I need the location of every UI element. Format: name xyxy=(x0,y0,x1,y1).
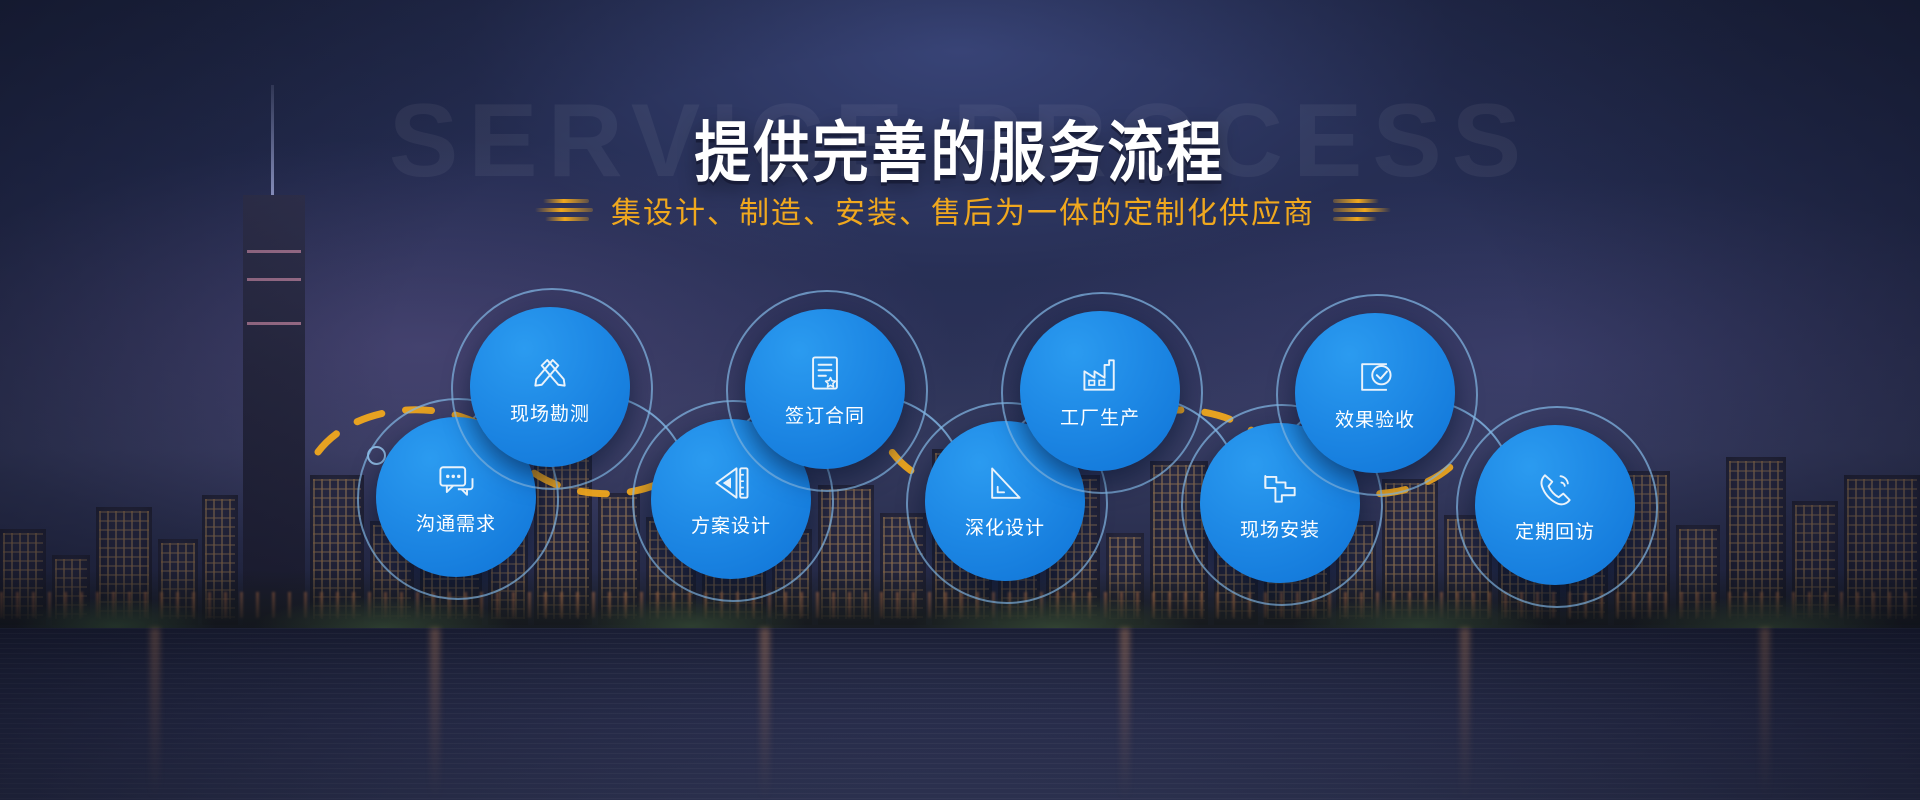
process-flow: 沟通需求 现场勘测 方案设计 xyxy=(0,300,1920,620)
subtitle-row: 集设计、制造、安装、售后为一体的定制化供应商 xyxy=(0,188,1920,232)
step-label-7: 现场安装 xyxy=(1240,515,1320,542)
step-label-5: 深化设计 xyxy=(965,513,1045,540)
step-label-3: 方案设计 xyxy=(691,511,771,538)
step-node-4[interactable]: 签订合同 xyxy=(745,309,905,469)
service-process-banner: SERVICE PROCESS 提供完善的服务流程 集设计、制造、安装、售后为一… xyxy=(0,0,1920,800)
step-node-6[interactable]: 工厂生产 xyxy=(1020,311,1180,471)
step-label-2: 现场勘测 xyxy=(510,399,590,426)
page-title: 提供完善的服务流程 xyxy=(0,100,1920,196)
factory-icon xyxy=(1078,353,1122,397)
step-label-9: 定期回访 xyxy=(1515,517,1595,544)
step-node-9[interactable]: 定期回访 xyxy=(1475,425,1635,585)
step-label-1: 沟通需求 xyxy=(416,509,496,536)
contract-document-icon xyxy=(803,351,847,395)
pencil-ruler-icon xyxy=(528,349,572,393)
step-label-4: 签订合同 xyxy=(785,401,865,428)
step-node-8[interactable]: 效果验收 xyxy=(1295,313,1455,473)
phone-call-icon xyxy=(1533,467,1577,511)
set-square-icon xyxy=(983,463,1027,507)
gold-dash-left-icon xyxy=(529,199,593,221)
step-node-2[interactable]: 现场勘测 xyxy=(470,307,630,467)
checkmark-approval-icon xyxy=(1353,355,1397,399)
gold-dash-right-icon xyxy=(1333,199,1391,221)
page-subtitle: 集设计、制造、安装、售后为一体的定制化供应商 xyxy=(611,188,1315,232)
step-label-6: 工厂生产 xyxy=(1060,403,1140,430)
step-label-8: 效果验收 xyxy=(1335,405,1415,432)
chat-bubble-icon xyxy=(434,459,478,503)
draft-ruler-icon xyxy=(709,461,753,505)
power-drill-icon xyxy=(1258,465,1302,509)
